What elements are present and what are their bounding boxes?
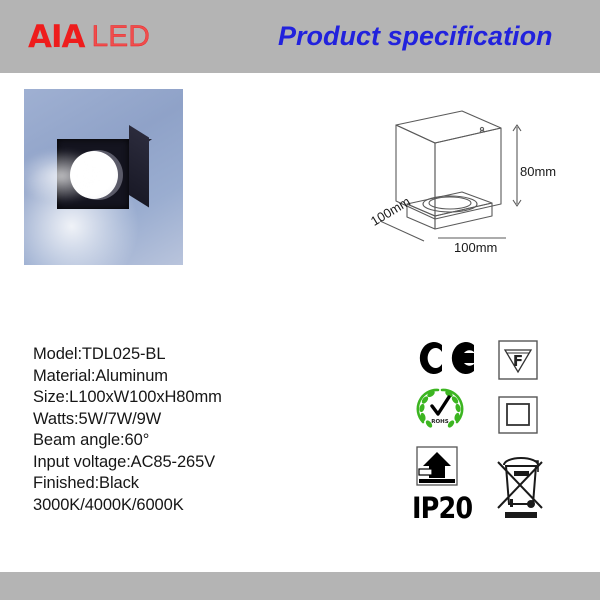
f-mark-svg: F — [496, 338, 540, 382]
f-mark-icon: F — [496, 338, 540, 387]
weee-crossed-out-bin-icon — [492, 452, 550, 527]
ce-mark-icon — [416, 340, 478, 382]
brand-mark-text: AIA — [28, 22, 85, 53]
dimension-width-label: 100mm — [454, 240, 497, 255]
svg-text:ROHS: ROHS — [431, 419, 449, 425]
spec-line-material: Material:Aluminum — [33, 366, 333, 388]
brand-logo: AIA LED — [28, 20, 150, 54]
spec-line-input-voltage: Input voltage:AC85-265V — [33, 452, 333, 474]
certification-icons: F — [408, 336, 578, 536]
technical-drawing: 80mm 100mm 100mm — [362, 96, 592, 276]
ip-rating-label: IP20 — [412, 494, 472, 523]
spec-line-beam-angle: Beam angle:60° — [33, 430, 333, 452]
svg-text:F: F — [513, 352, 523, 370]
spec-line-model: Model:TDL025-BL — [33, 344, 333, 366]
ce-mark-svg — [416, 340, 478, 376]
spec-line-size: Size:L100xW100xH80mm — [33, 387, 333, 409]
flammable-surface-mounting-icon — [414, 444, 460, 493]
specification-list: Model:TDL025-BL Material:Aluminum Size:L… — [33, 344, 333, 516]
rohs-icon: ROHS — [414, 384, 466, 437]
footer-band — [0, 572, 600, 600]
class-2-svg — [496, 394, 540, 436]
page-title: Product specification — [278, 20, 553, 52]
spec-line-finished: Finished:Black — [33, 473, 333, 495]
product-photo — [24, 89, 183, 265]
spec-sheet: AIA LED Product specification — [0, 0, 600, 600]
spec-line-color-temperature: 3000K/4000K/6000K — [33, 495, 333, 517]
rohs-svg: ROHS — [414, 384, 466, 432]
weee-svg — [492, 452, 550, 522]
fixture-side-face — [129, 125, 149, 207]
class-2-double-insulation-icon — [496, 394, 540, 441]
spec-line-watts: Watts:5W/7W/9W — [33, 409, 333, 431]
dimension-height-label: 80mm — [520, 164, 556, 179]
surface-mount-svg — [414, 444, 460, 488]
brand-sub-text: LED — [92, 22, 150, 52]
